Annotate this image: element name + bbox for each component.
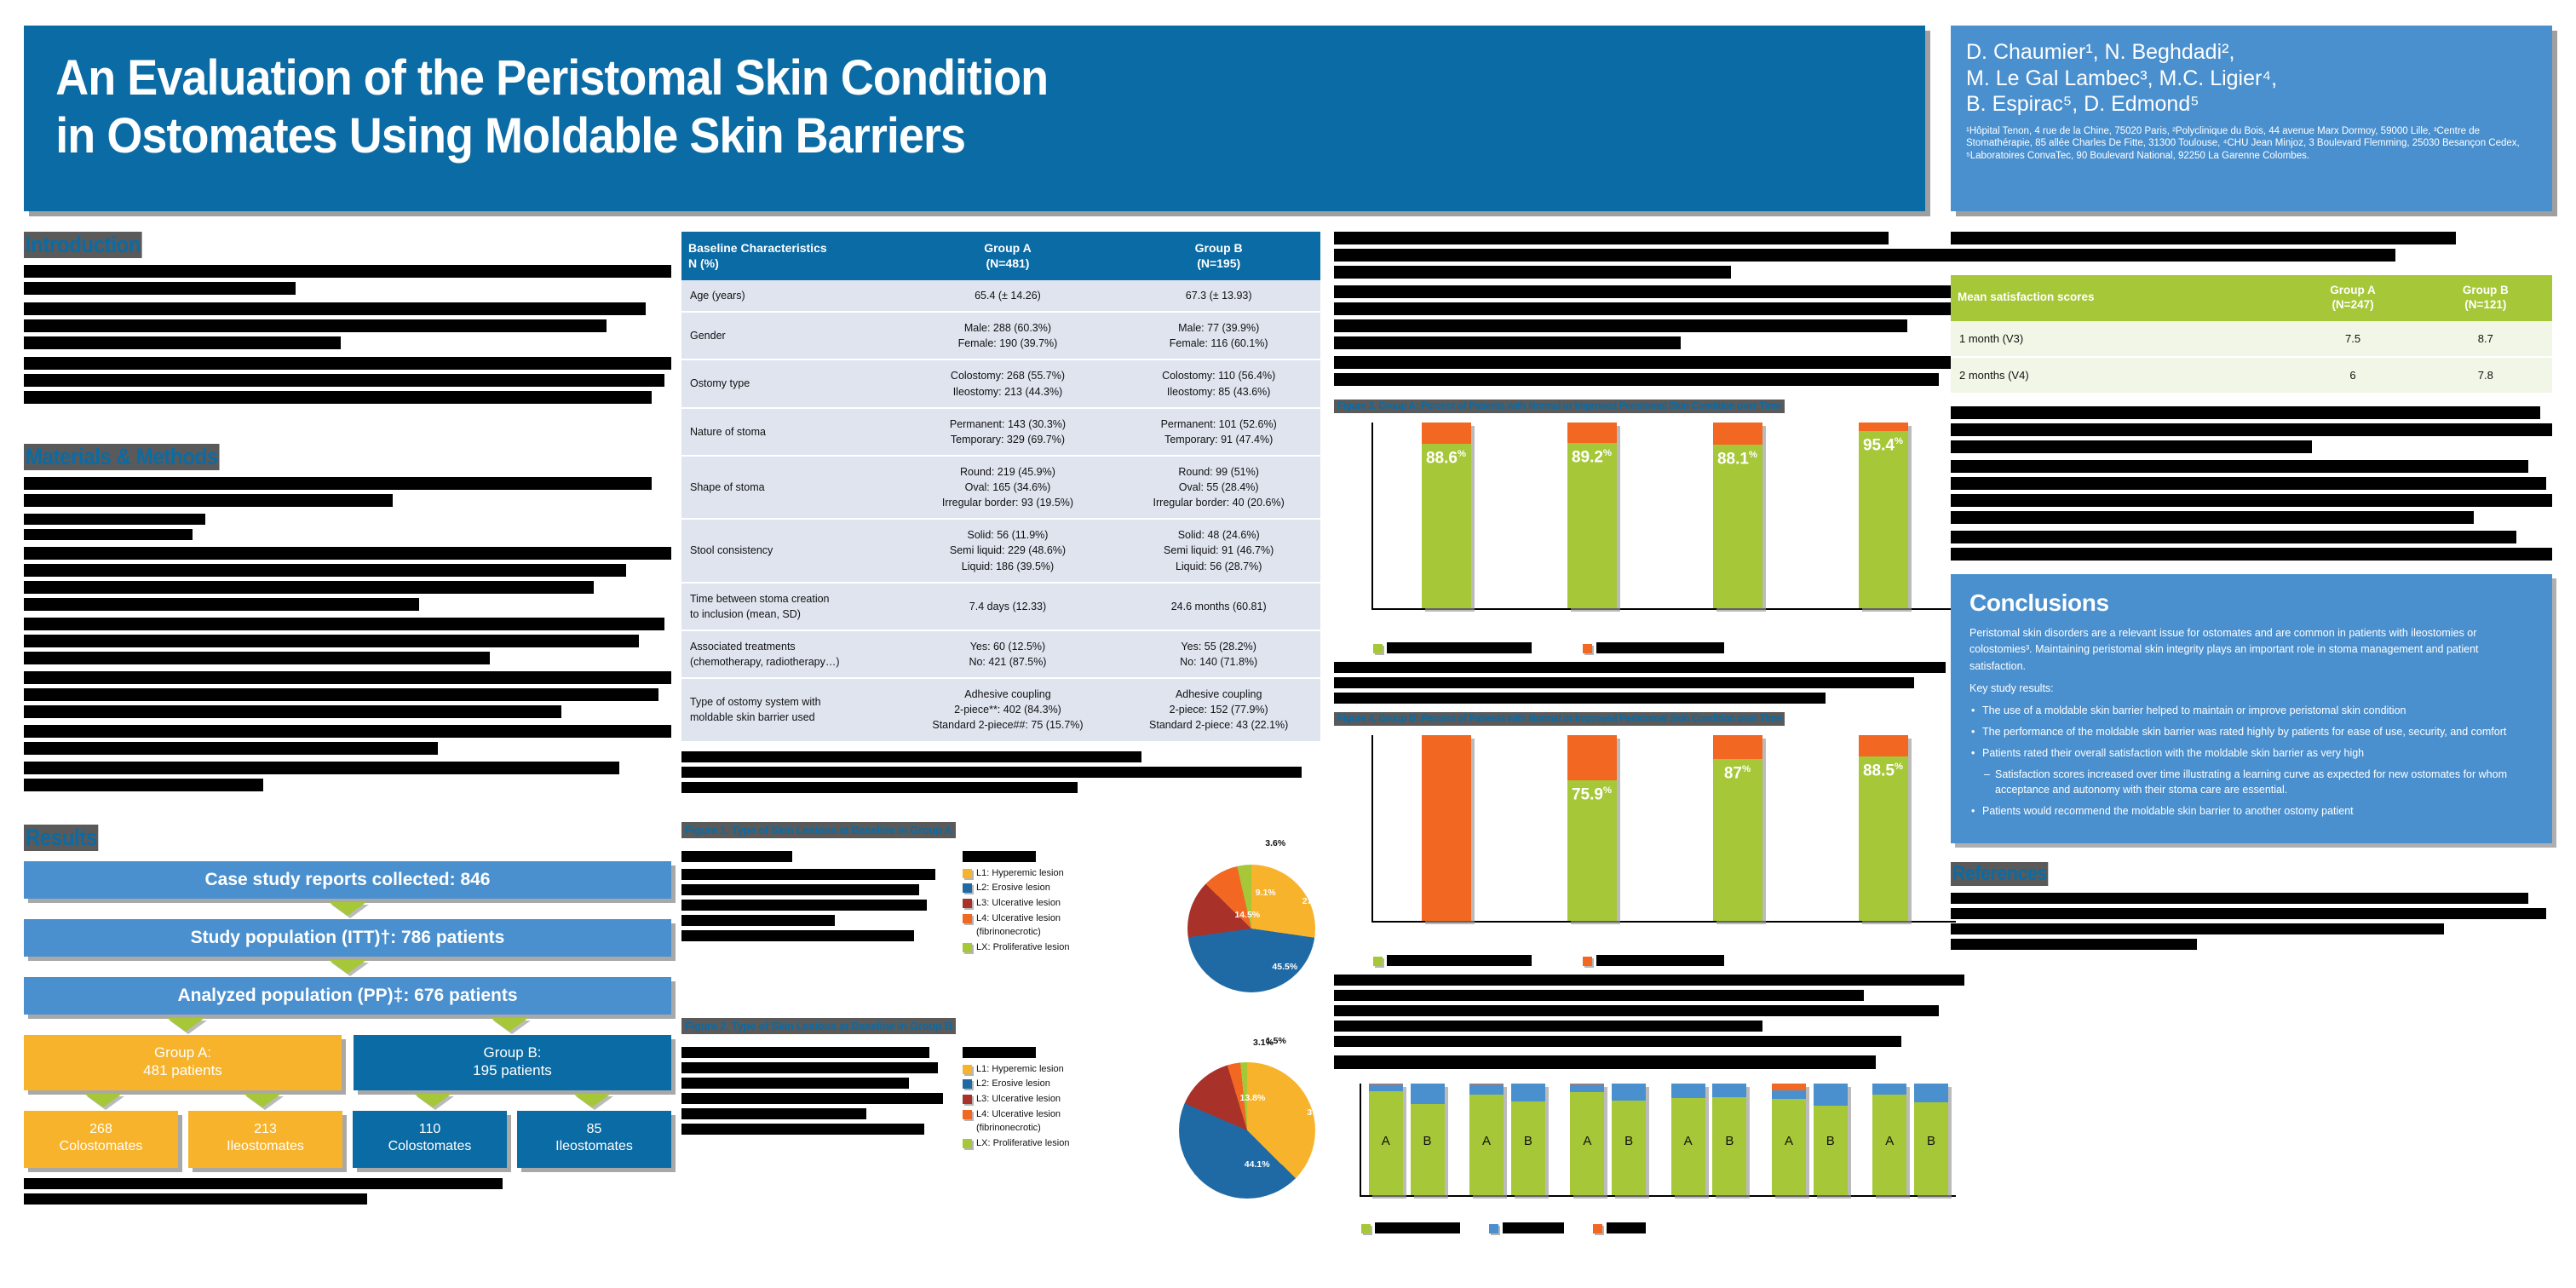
table-cell: Associated treatments (chemotherapy, rad… [681,630,899,678]
table-row: Associated treatments (chemotherapy, rad… [681,630,1320,678]
flow-box-a-ileostomates: 213 Ileostomates [188,1111,342,1169]
author-affiliations: ¹Hôpital Tenon, 4 rue de la Chine, 75020… [1966,125,2537,164]
pie-slice-label: 14.5% [1232,910,1262,920]
legend-label: L4: Ulcerative lesion (fibrinonecrotic) [976,1108,1061,1136]
bar-segment-neutral [1570,1084,1604,1092]
bar-column: 95.4% [1859,423,1908,608]
legend-item: L2: Erosive lesion [963,1078,1069,1091]
table-cell: Yes: 55 (28.2%) No: 140 (71.8%) [1117,630,1320,678]
left-footnotes-redacted [24,1178,671,1205]
bar-column: A [1872,1084,1906,1195]
legend-label: L4: Ulcerative lesion (fibrinonecrotic) [976,912,1061,940]
bar-segment-agree [1914,1102,1948,1195]
figure-2-pie [1179,1062,1315,1199]
author-names: D. Chaumier¹, N. Beghdadi², M. Le Gal La… [1966,39,2537,118]
section-heading-materials: Materials & Methods [24,444,220,470]
table-cell: 24.6 months (60.81) [1117,583,1320,630]
table-cell: 7.8 [2419,357,2552,394]
column-left: Introduction Materials & Methods [24,232,671,1209]
bar-segment-improved: 95.4% [1859,431,1908,608]
bar-segment-deteriorated [1713,735,1762,759]
figure-2-legend: L1: Hyperemic lesionL2: Erosive lesionL3… [963,1047,1069,1153]
bar-column: A [1772,1084,1806,1195]
flow-arrow-icon [414,1094,451,1107]
satisfaction-scores-table: Mean satisfaction scores Group A (N=247)… [1951,275,2552,394]
pie-slice-label: 27.3% [1300,896,1331,906]
bar-column: B [1712,1084,1746,1195]
bar-segment-neutral [1712,1084,1746,1097]
bar-group-label: B [1612,1134,1646,1148]
table-cell: Nature of stoma [681,408,899,456]
bar-segment-improved: 89.2% [1567,443,1617,608]
bar-segment-deteriorated [1422,423,1471,444]
flow-arrow-icon [491,1018,528,1032]
flow-box-a-colostomates: 268 Colostomates [24,1111,178,1169]
conclusions-lead: Key study results: [1969,681,2535,697]
section-heading-references: References [1951,862,2049,886]
pie-slice-label: 3.6% [1260,838,1291,848]
table-cell: 1 month (V3) [1951,321,2286,357]
table-header-row: Baseline Characteristics N (%) Group A (… [681,232,1320,280]
bar-group-label: A [1772,1134,1806,1148]
legend-label: L2: Erosive lesion [976,1078,1050,1091]
bar-group-label: A [1469,1134,1504,1148]
bar-segment-improved: 87% [1713,759,1762,921]
section-heading-introduction: Introduction [24,232,142,258]
column-two: Baseline Characteristics N (%) Group A (… [681,232,1320,1196]
legend-label: L3: Ulcerative lesion [976,1093,1061,1107]
bar-group-label: B [1511,1134,1545,1148]
list-item: Patients rated their overall satisfactio… [1969,745,2535,762]
table-cell: Round: 99 (51%) Oval: 55 (28.4%) Irregul… [1117,456,1320,519]
legend-label: L1: Hyperemic lesion [976,1063,1064,1077]
flow-arrow-icon [329,902,366,916]
flow-arrow-icon [244,1094,281,1107]
figure-1-pie [1187,865,1315,992]
flow-box-b-ileostomates: 85 Ileostomates [517,1111,671,1169]
bar-group-label: A [1872,1134,1906,1148]
legend-swatch-icon [963,943,972,952]
poster-title-banner: An Evaluation of the Peristomal Skin Con… [24,26,1925,211]
figure-4-caption: Figure 4. Group B: Percent of Patients w… [1334,712,1785,726]
bar-value-label: 89.2% [1567,448,1617,467]
legend-item: L4: Ulcerative lesion (fibrinonecrotic) [963,912,1069,940]
col-header-group-b: Group B (N=195) [1117,232,1320,280]
bar-value-label: 75.9% [1567,785,1617,804]
flow-box-itt: Study population (ITT)†: 786 patients [24,919,671,957]
table-cell: Colostomy: 268 (55.7%) Ileostomy: 213 (4… [899,359,1118,407]
table-row: 1 month (V3)7.58.7 [1951,321,2552,357]
bar-column: 89.2% [1567,423,1617,608]
col-header-characteristic: Baseline Characteristics N (%) [681,232,899,280]
table-row: GenderMale: 288 (60.3%) Female: 190 (39.… [681,312,1320,359]
bar-column: B [1612,1084,1646,1195]
table-cell: 2 months (V4) [1951,357,2286,394]
figure-2-block: Figure 2. Type of Skin Lesions at Baseli… [681,1018,1320,1196]
bar-column: B [1914,1084,1948,1195]
bar-group-label: A [1570,1134,1604,1148]
figure-3-block: Figure 3. Group A: Percent of Patients w… [1334,400,1964,704]
table-row: Age (years)65.4 (± 14.26)67.3 (± 13.93) [681,280,1320,312]
conclusions-panel: Conclusions Peristomal skin disorders ar… [1951,574,2552,843]
pie-slice-label: 9.1% [1251,888,1281,898]
results-flow-diagram: Case study reports collected: 846 Study … [24,861,671,1168]
conclusions-heading: Conclusions [1969,589,2535,617]
bar-column: 88.6% [1422,423,1471,608]
legend-swatch-icon [963,869,972,878]
table-cell: Stool consistency [681,519,899,582]
figure-1-group-label [681,851,946,862]
table-cell: Shape of stoma [681,456,899,519]
col-header-group-a: Group A (N=247) [2286,275,2418,321]
pie-slice-label: 13.8% [1237,1093,1268,1103]
table-cell: Round: 219 (45.9%) Oval: 165 (34.6%) Irr… [899,456,1118,519]
col-header-group-a: Group A (N=481) [899,232,1118,280]
materials-body-redacted [24,477,671,791]
table-cell: Male: 77 (39.9%) Female: 116 (60.1%) [1117,312,1320,359]
table-cell: 7.4 days (12.33) [899,583,1118,630]
pie-slice-label: 37.4% [1304,1107,1335,1118]
legend-label: L1: Hyperemic lesion [976,867,1064,881]
table-row: Time between stoma creation to inclusion… [681,583,1320,630]
bar-group-label: A [1671,1134,1705,1148]
figure-3-chart: 88.6%89.2%88.1%95.4% [1334,417,1964,639]
baseline-characteristics-table: Baseline Characteristics N (%) Group A (… [681,232,1320,743]
bar-segment-deteriorated [1859,423,1908,431]
table-row: Ostomy typeColostomy: 268 (55.7%) Ileost… [681,359,1320,407]
author-block: D. Chaumier¹, N. Beghdadi², M. Le Gal La… [1951,26,2552,211]
section-heading-results: Results [24,825,99,851]
legend-swatch-icon [963,914,972,923]
table-cell: Time between stoma creation to inclusion… [681,583,899,630]
bar-segment-deteriorated [1567,423,1617,443]
legend-swatch-icon [963,1095,972,1104]
table-cell: 6 [2286,357,2418,394]
bar-segment-deteriorated [1713,423,1762,445]
legend-label: LX: Proliferative lesion [976,1137,1069,1151]
list-item: The performance of the moldable skin bar… [1969,724,2535,740]
bar-column: A [1469,1084,1504,1195]
table-row: Type of ostomy system with moldable skin… [681,678,1320,741]
legend-item: LX: Proliferative lesion [963,941,1069,955]
bar-segment-neutral [1411,1084,1445,1104]
figure-3-caption: Figure 3. Group A: Percent of Patients w… [1334,400,1785,413]
table-cell: 8.7 [2419,321,2552,357]
baseline-table-footnote-redacted [681,751,1320,793]
flow-box-group-b: Group B: 195 patients [354,1035,671,1090]
figure-5-block: ABABABABABAB [1334,1055,1964,1233]
figure-4-notes-redacted [1334,975,1964,1047]
col4-top-redacted [1951,232,2552,262]
bar-segment-neutral [1612,1084,1646,1101]
bar-segment-neutral [1872,1084,1906,1095]
bar-segment-neutral [1772,1090,1806,1099]
flow-arrow-icon [329,960,366,974]
table-cell: Adhesive coupling 2-piece: 152 (77.9%) S… [1117,678,1320,741]
figure-1-legend: L1: Hyperemic lesionL2: Erosive lesionL3… [963,851,1069,957]
table-cell: Yes: 60 (12.5%) No: 421 (87.5%) [899,630,1118,678]
bar-segment-improved: 88.5% [1859,756,1908,921]
bar-value-label: 88.5% [1859,762,1908,780]
table-row: Stool consistencySolid: 56 (11.9%) Semi … [681,519,1320,582]
legend-item: LX: Proliferative lesion [963,1137,1069,1151]
poster-root: An Evaluation of the Peristomal Skin Con… [0,0,2576,1288]
figure-4-block: Figure 4. Group B: Percent of Patients w… [1334,712,1964,1047]
bar-segment-deteriorated [1567,735,1617,780]
bar-group-label: B [1411,1134,1445,1148]
bar-column: 88.5% [1859,735,1908,921]
legend-item: L1: Hyperemic lesion [963,867,1069,881]
bar-segment-agree [1814,1106,1848,1195]
col-header-satisfaction: Mean satisfaction scores [1951,275,2286,321]
figure-3-legend [1334,642,1964,653]
figure-4-chart: 75.9%87%88.5% [1334,730,1964,952]
legend-swatch-icon [963,1110,972,1119]
col3-top-redacted [1334,232,1964,386]
bar-segment-improved: 75.9% [1567,780,1617,921]
page-title: An Evaluation of the Peristomal Skin Con… [24,26,1792,166]
bar-column: 88.1% [1713,423,1762,608]
bar-segment-neutral [1369,1084,1403,1091]
bar-segment-neutral [1469,1084,1504,1095]
bar-segment-improved: 88.6% [1422,444,1471,608]
legend-label: LX: Proliferative lesion [976,941,1069,955]
table-cell: 67.3 (± 13.93) [1117,280,1320,312]
bar-segment-neutral [1814,1084,1848,1106]
bar-group-label: B [1914,1134,1948,1148]
figure-2-body-redacted [681,1047,946,1135]
figure-4-legend [1334,955,1964,966]
pie-slice-label: 1.5% [1261,1036,1291,1046]
bar-column: B [1814,1084,1848,1195]
bar-value-label: 95.4% [1859,436,1908,455]
flow-arrow-icon [167,1018,204,1032]
table-cell: Permanent: 143 (30.3%) Temporary: 329 (6… [899,408,1118,456]
bar-column: 75.9% [1567,735,1617,921]
flow-box-group-a: Group A: 481 patients [24,1035,342,1090]
figure-2-caption: Figure 2. Type of Skin Lesions at Baseli… [681,1018,956,1034]
legend-item: L3: Ulcerative lesion [963,897,1069,911]
legend-swatch-icon [963,1139,972,1148]
figure-1-caption: Figure 1. Type of Skin Lesions at Baseli… [681,822,956,838]
table-cell: Permanent: 101 (52.6%) Temporary: 91 (47… [1117,408,1320,456]
satisfaction-table-body: 1 month (V3)7.58.72 months (V4)67.8 [1951,321,2552,394]
flow-box-case-reports: Case study reports collected: 846 [24,861,671,899]
pie-slice-label: 44.1% [1242,1159,1273,1170]
legend-swatch-icon [963,899,972,908]
bar-value-label: 88.1% [1713,450,1762,469]
bar-column: B [1511,1084,1545,1195]
table-cell: Gender [681,312,899,359]
bar-value-label: 87% [1713,764,1762,783]
legend-label: L2: Erosive lesion [976,882,1050,895]
table-cell: 7.5 [2286,321,2418,357]
figure-5-caption [1334,1055,1876,1069]
table-cell: Male: 288 (60.3%) Female: 190 (39.7%) [899,312,1118,359]
column-right: Mean satisfaction scores Group A (N=247)… [1951,232,2552,954]
figure-3-notes-redacted [1334,662,1964,704]
legend-swatch-icon [963,1065,972,1074]
bar-value-label: 88.6% [1422,449,1471,468]
baseline-table-body: Age (years)65.4 (± 14.26)67.3 (± 13.93)G… [681,280,1320,742]
bar-segment-deteriorated [1859,735,1908,756]
legend-swatch-icon [963,1079,972,1089]
conclusions-paragraph: Peristomal skin disorders are a relevant… [1969,625,2535,675]
bar-segment-neutral [1914,1084,1948,1102]
table-header-row: Mean satisfaction scores Group A (N=247)… [1951,275,2552,321]
table-cell: 65.4 (± 14.26) [899,280,1118,312]
bar-group-label: A [1369,1134,1403,1148]
figure-1-body-redacted [681,869,946,941]
conclusions-bullet-list: The use of a moldable skin barrier helpe… [1969,703,2535,819]
bar-column: 87% [1713,735,1762,921]
bar-column [1422,735,1471,921]
bar-column: A [1369,1084,1403,1195]
list-item: The use of a moldable skin barrier helpe… [1969,703,2535,719]
col4-mid-redacted [1951,406,2552,561]
bar-column: B [1411,1084,1445,1195]
flow-arrow-icon [84,1094,122,1107]
legend-label: L3: Ulcerative lesion [976,897,1061,911]
flow-box-b-colostomates: 110 Colostomates [353,1111,507,1169]
bar-segment-improved: 88.1% [1713,445,1762,608]
legend-item: L1: Hyperemic lesion [963,1063,1069,1077]
figure-5-chart: ABABABABABAB [1334,1078,1964,1219]
figure-5-legend [1334,1222,1964,1233]
bar-segment-neutral [1511,1084,1545,1101]
list-item: Patients would recommend the moldable sk… [1969,803,2535,819]
bar-segment-neutral [1671,1084,1705,1098]
table-cell: Solid: 48 (24.6%) Semi liquid: 91 (46.7%… [1117,519,1320,582]
references-body-redacted [1951,893,2552,950]
table-row: Shape of stomaRound: 219 (45.9%) Oval: 1… [681,456,1320,519]
bar-segment-deteriorated [1422,735,1471,921]
introduction-body-redacted [24,265,671,404]
table-cell: Adhesive coupling 2-piece**: 402 (84.3%)… [899,678,1118,741]
table-cell: Ostomy type [681,359,899,407]
col-header-group-b: Group B (N=121) [2419,275,2552,321]
flow-arrow-icon [573,1094,611,1107]
table-row: Nature of stomaPermanent: 143 (30.3%) Te… [681,408,1320,456]
pie-slice-label: 45.5% [1269,962,1300,972]
bar-segment-agree [1411,1104,1445,1195]
table-cell: Age (years) [681,280,899,312]
bar-column: A [1671,1084,1705,1195]
column-three: Figure 3. Group A: Percent of Patients w… [1334,232,1964,1233]
legend-item: L3: Ulcerative lesion [963,1093,1069,1107]
table-cell: Colostomy: 110 (56.4%) Ileostomy: 85 (43… [1117,359,1320,407]
table-cell: Type of ostomy system with moldable skin… [681,678,899,741]
legend-item: L4: Ulcerative lesion (fibrinonecrotic) [963,1108,1069,1136]
bar-group-label: B [1814,1134,1848,1148]
figure-1-block: Figure 1. Type of Skin Lesions at Baseli… [681,822,1320,996]
table-cell: Solid: 56 (11.9%) Semi liquid: 229 (48.6… [899,519,1118,582]
bar-column: A [1570,1084,1604,1195]
table-row: 2 months (V4)67.8 [1951,357,2552,394]
legend-swatch-icon [963,883,972,893]
list-item-sub: Satisfaction scores increased over time … [1969,767,2535,799]
bar-group-label: B [1712,1134,1746,1148]
bar-segment-disagree [1772,1084,1806,1090]
flow-box-pp: Analyzed population (PP)‡: 676 patients [24,977,671,1015]
legend-item: L2: Erosive lesion [963,882,1069,895]
